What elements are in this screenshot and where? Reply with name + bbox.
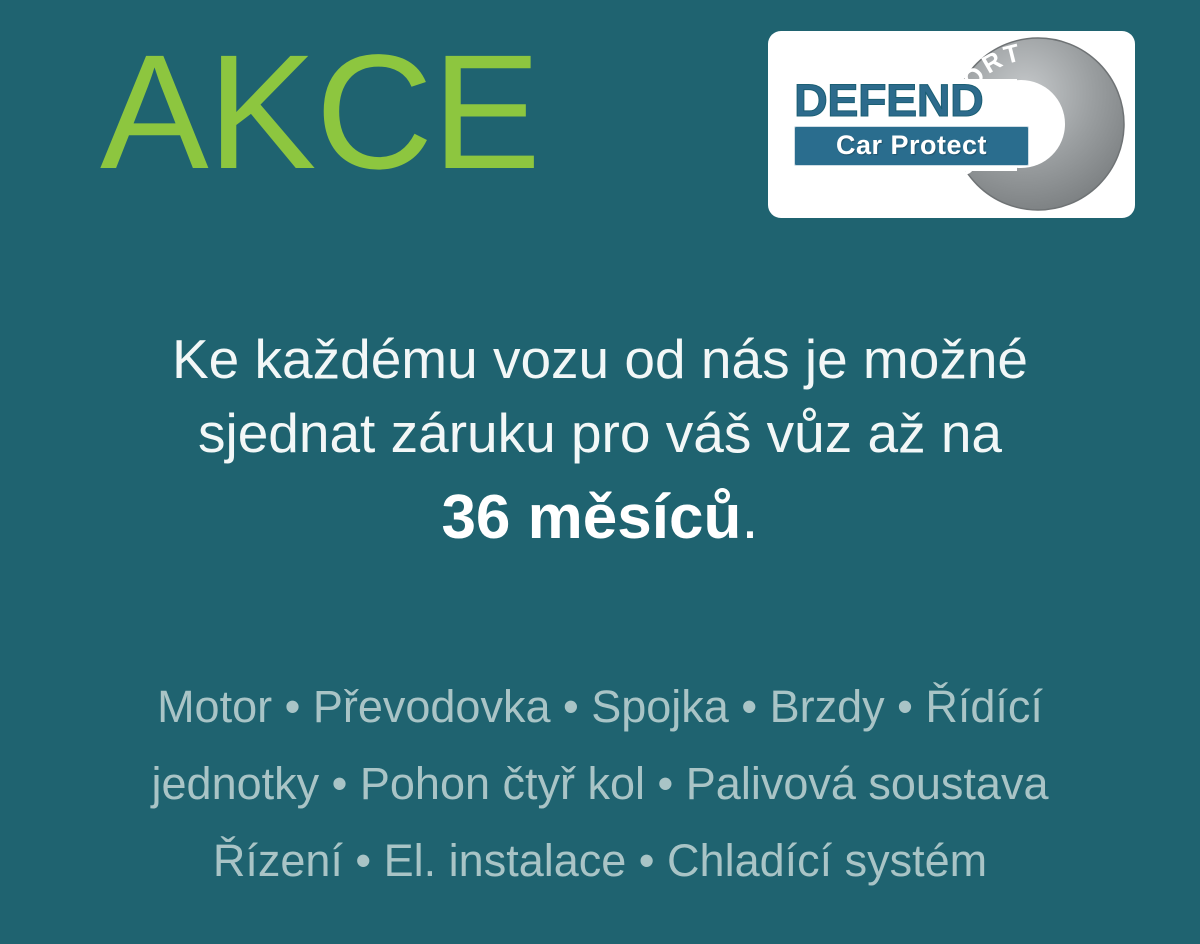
page-title: AKCE xyxy=(100,30,540,193)
promo-banner: AKCE xyxy=(0,0,1200,944)
covered-parts-line-1: Motor • Převodovka • Spojka • Brzdy • Ří… xyxy=(0,668,1200,745)
brand-tagline: Car Protect xyxy=(836,130,987,160)
offer-message-line-1: Ke každému vozu od nás je možné xyxy=(0,322,1200,396)
offer-duration-period: . xyxy=(741,483,758,552)
covered-parts-list: Motor • Převodovka • Spojka • Brzdy • Ří… xyxy=(0,668,1200,899)
covered-parts-line-3: Řízení • El. instalace • Chladící systém xyxy=(0,822,1200,899)
offer-message-line-2: sjednat záruku pro váš vůz až na xyxy=(0,396,1200,470)
offer-message: Ke každému vozu od nás je možné sjednat … xyxy=(0,322,1200,556)
tagline-bar: Car Protect xyxy=(794,126,1029,166)
defend-logo-card: COMFORT DEFEND Car Protect xyxy=(768,31,1135,218)
defend-wordmark: DEFEND Car Protect xyxy=(794,78,1029,166)
brand-name: DEFEND xyxy=(794,78,1038,124)
logo-inner: COMFORT DEFEND Car Protect xyxy=(768,31,1135,218)
covered-parts-line-2: jednotky • Pohon čtyř kol • Palivová sou… xyxy=(0,745,1200,822)
offer-duration-value: 36 měsíců xyxy=(441,483,741,552)
banner-header: AKCE xyxy=(0,0,1200,250)
offer-duration: 36 měsíců. xyxy=(0,480,1200,556)
